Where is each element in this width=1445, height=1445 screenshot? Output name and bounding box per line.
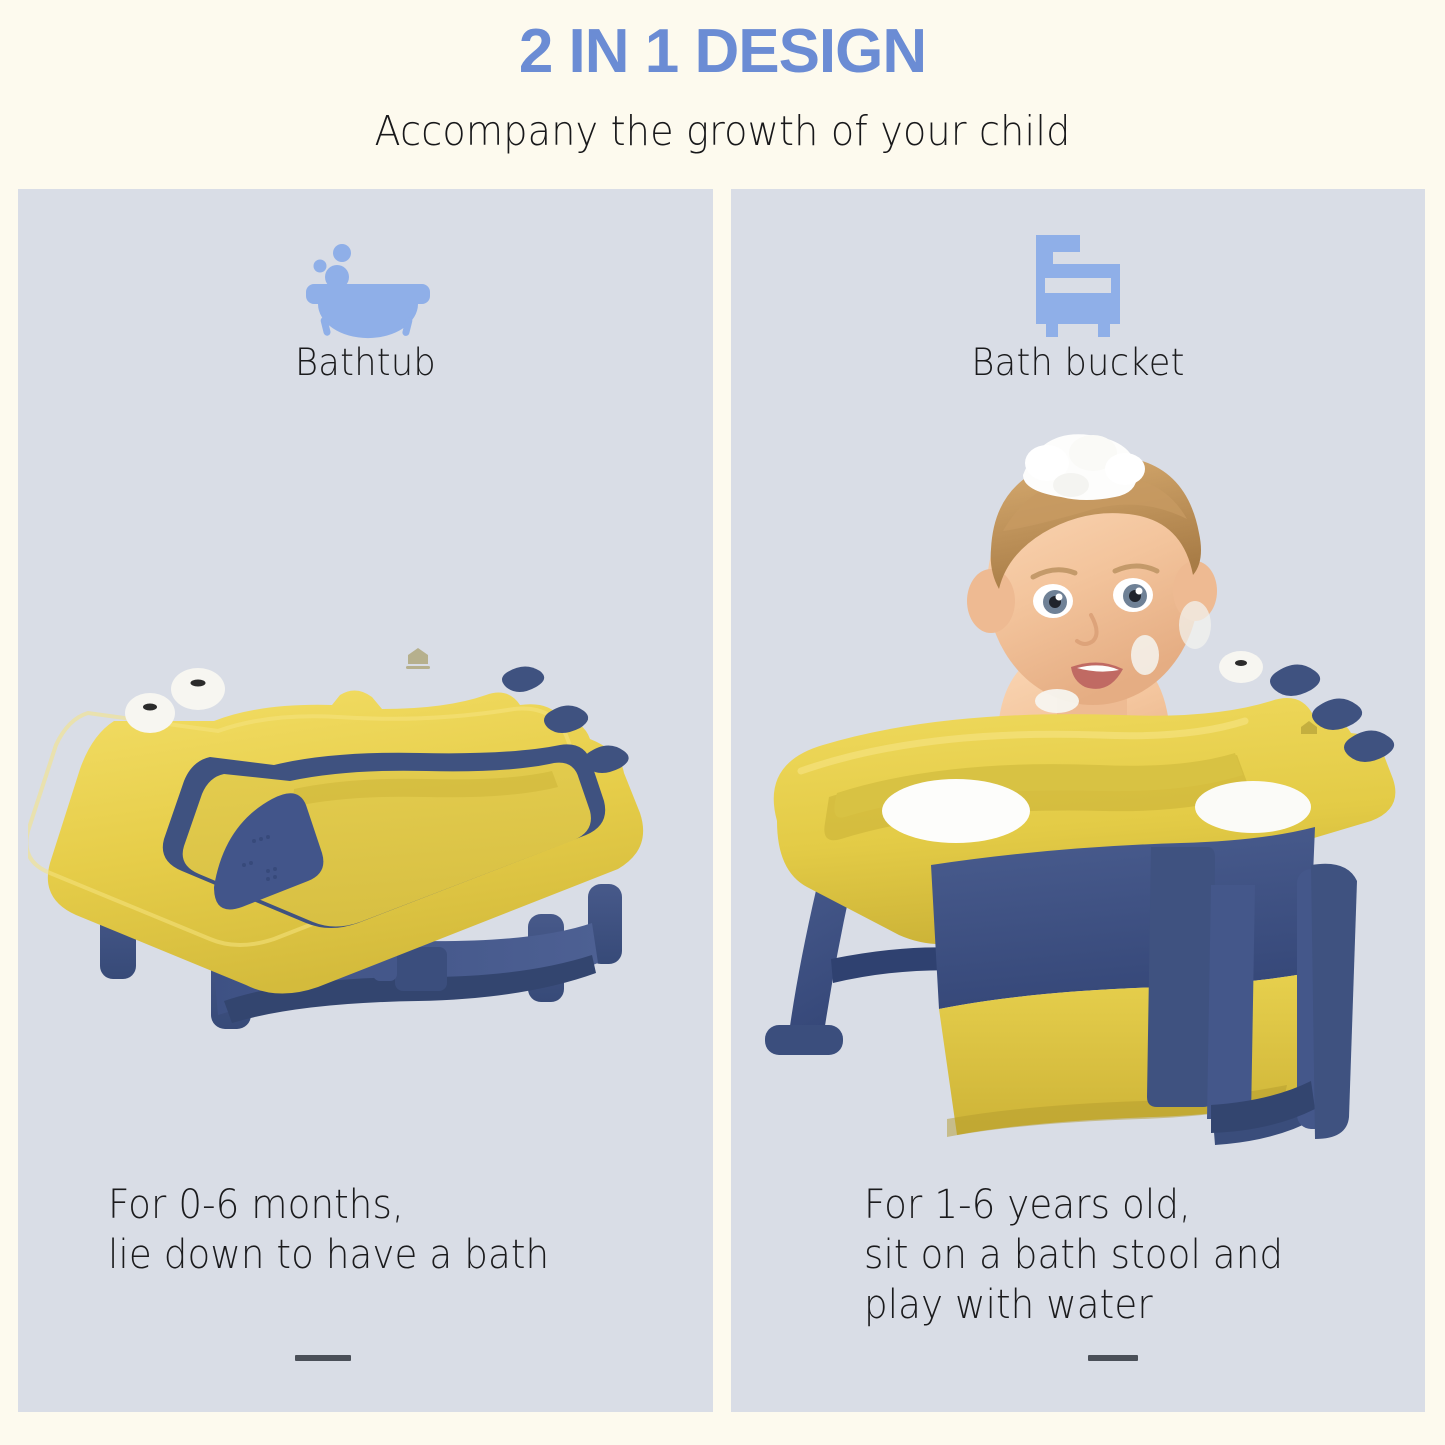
bath-bucket-icon	[1018, 225, 1138, 343]
panel-bath-bucket[interactable]: Bath bucket	[731, 189, 1425, 1412]
product-photo-baby-in-bath-bucket	[741, 419, 1416, 1159]
header: 2 IN 1 DESIGN Accompany the growth of yo…	[0, 0, 1445, 189]
product-photo-folded-bathtub	[28, 629, 703, 1059]
caption-bathtub: For 0-6 months, lie down to have a bath	[108, 1180, 549, 1280]
bathtub-icon-wrap	[18, 225, 713, 345]
page-subtitle: Accompany the growth of your child	[51, 108, 1395, 154]
divider-right	[1088, 1355, 1138, 1361]
divider-left	[295, 1355, 351, 1361]
caption-bath-bucket: For 1-6 years old, sit on a bath stool a…	[864, 1180, 1283, 1330]
page-title: 2 IN 1 DESIGN	[0, 20, 1445, 84]
bathtub-icon	[296, 225, 436, 343]
panel-bathtub[interactable]: Bathtub	[18, 189, 713, 1412]
bath-bucket-icon-wrap	[731, 225, 1425, 345]
panel-label-bathtub: Bathtub	[35, 341, 695, 384]
panel-label-bath-bucket: Bath bucket	[748, 341, 1407, 384]
